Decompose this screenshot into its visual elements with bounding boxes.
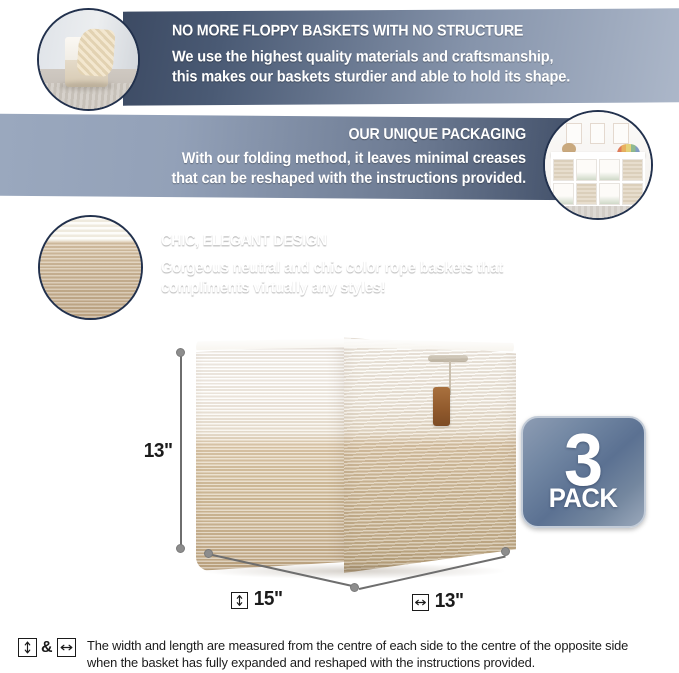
height-dimension-line <box>180 352 182 548</box>
photo-nursery-shelf <box>543 110 653 220</box>
photo-frame <box>590 123 606 144</box>
width-dimension-dot-left <box>204 549 213 558</box>
pack-count: 3 <box>564 430 603 489</box>
photo-rope-texture <box>38 215 143 320</box>
basket-front-face <box>196 343 346 571</box>
length-dimension-label: 13" <box>435 590 464 613</box>
banner-heading: NO MORE FLOPPY BASKETS WITH NO STRUCTURE <box>172 22 626 39</box>
photo-basket-carpet <box>37 8 140 111</box>
horizontal-double-arrow-icon <box>57 638 76 657</box>
feature-banner-chic-design: CHIC, ELEGANT DESIGN Gorgeous neutral an… <box>113 221 679 308</box>
photo-frame <box>613 123 629 144</box>
photo-cube <box>576 159 597 181</box>
photo-cube <box>599 159 620 181</box>
vertical-double-arrow-icon <box>231 592 248 609</box>
photo-cube <box>553 183 574 205</box>
photo-frame <box>566 123 582 144</box>
banner-heading: CHIC, ELEGANT DESIGN <box>161 232 625 249</box>
footnote-ampersand: & <box>41 639 53 657</box>
banner-heading: OUR UNIQUE PACKAGING <box>55 126 526 143</box>
vertical-double-arrow-icon <box>18 638 37 657</box>
basket-leather-hang-tag <box>433 387 450 426</box>
footnote-icons: & <box>18 637 76 657</box>
footnote-text: The width and length are measured from t… <box>87 637 628 672</box>
basket-handle-cutout <box>428 355 468 362</box>
basket-side-face <box>344 337 516 573</box>
three-pack-badge: 3 PACK <box>521 416 646 528</box>
photo-floor <box>545 206 651 218</box>
product-basket-image <box>196 337 516 579</box>
photo-cube <box>622 159 643 181</box>
banner-body: Gorgeous neutral and chic color rope bas… <box>161 258 635 298</box>
banner-body: With our folding method, it leaves minim… <box>45 149 526 189</box>
height-dimension-dot-top <box>176 348 185 357</box>
horizontal-double-arrow-icon <box>412 594 429 611</box>
height-dimension-label: 13" <box>144 440 173 463</box>
photo-cube <box>599 183 620 205</box>
photo-cube <box>622 183 643 205</box>
banner-body: We use the highest quality materials and… <box>172 47 635 87</box>
feature-banner-unique-packaging: OUR UNIQUE PACKAGING With our folding me… <box>0 114 586 201</box>
height-dimension-dot-bottom <box>176 544 185 553</box>
photo-cube-shelf <box>551 157 644 208</box>
photo-rope-tan-section <box>40 241 141 318</box>
width-dimension-label: 15" <box>254 588 283 611</box>
photo-cube <box>553 159 574 181</box>
photo-rope-white-section <box>40 217 141 241</box>
photo-cube <box>576 183 597 205</box>
feature-banner-no-structure: NO MORE FLOPPY BASKETS WITH NO STRUCTURE… <box>123 8 679 105</box>
pack-word: PACK <box>549 485 618 512</box>
measurement-footnote: & The width and length are measured from… <box>18 637 666 672</box>
photo-knit-blanket <box>76 28 115 77</box>
base-front-corner-dot <box>350 583 359 592</box>
length-dimension-dot-right <box>501 547 510 556</box>
